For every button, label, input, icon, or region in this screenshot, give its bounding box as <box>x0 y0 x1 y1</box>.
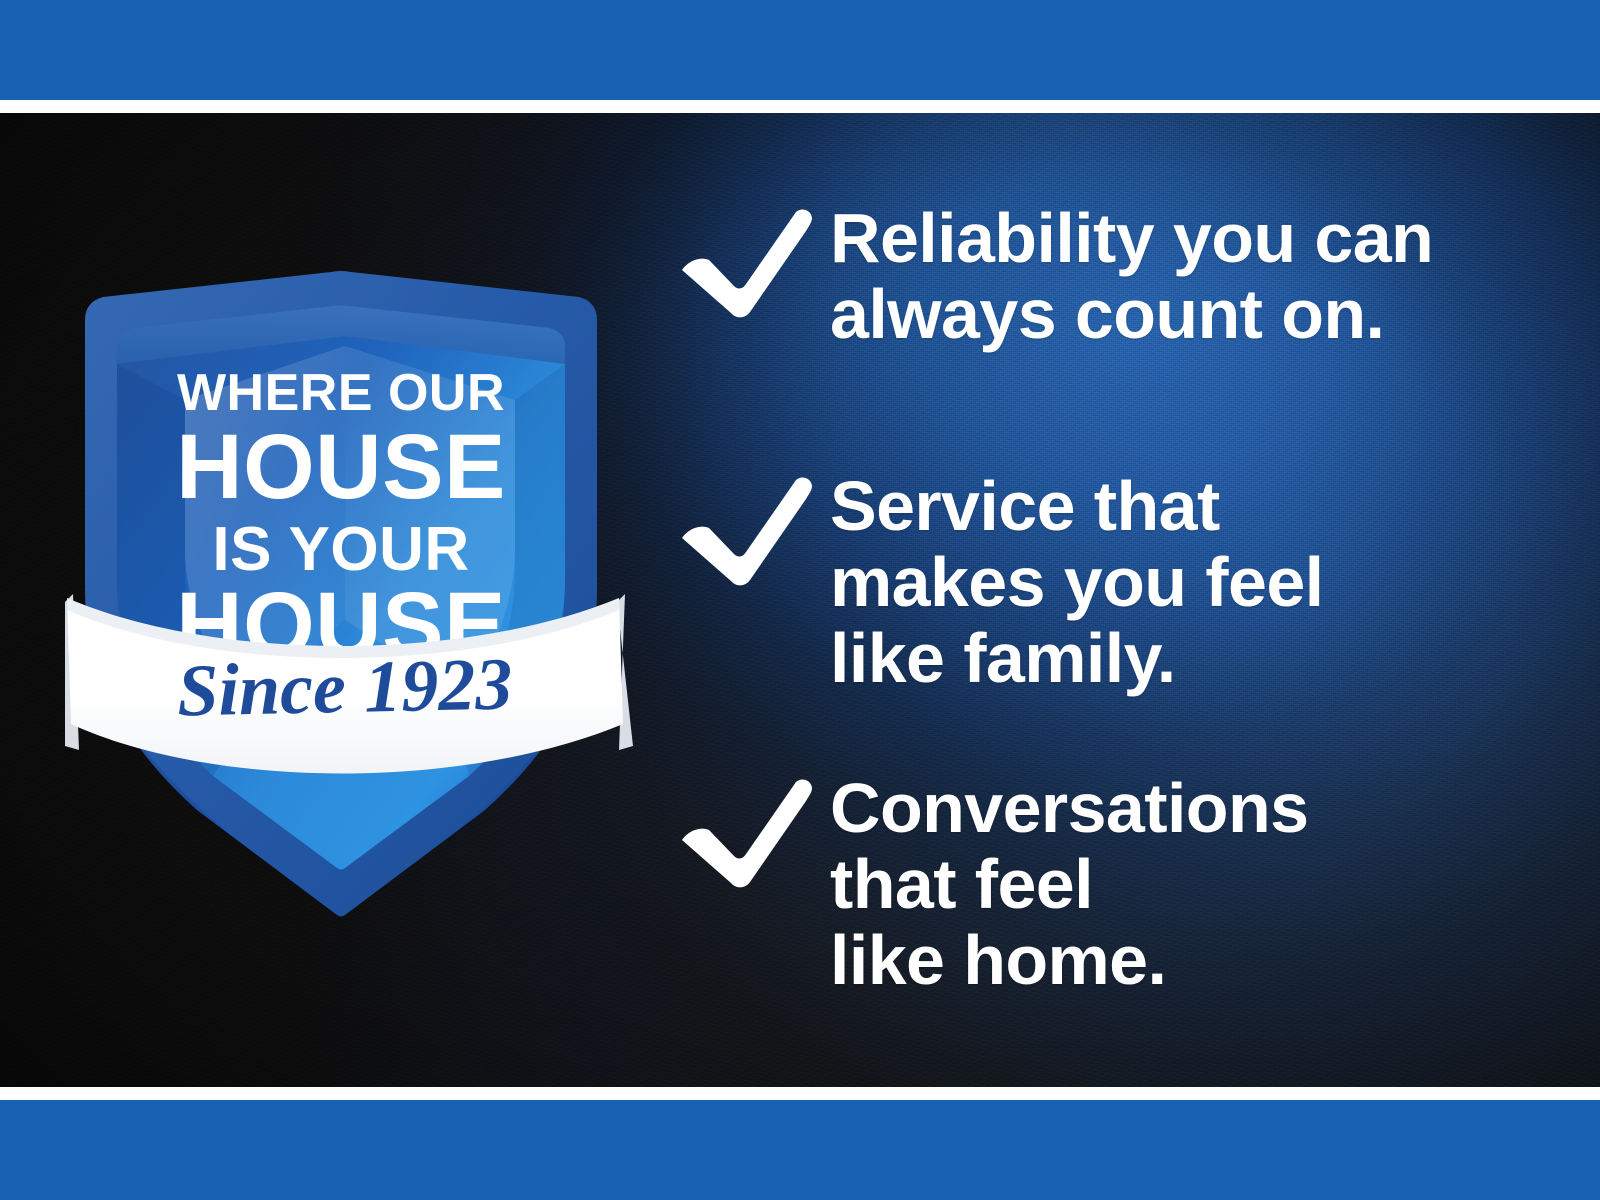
benefit-line: like home. <box>830 922 1590 998</box>
check-icon <box>678 778 814 890</box>
shield-text-block: WHERE OUR HOUSE IS YOUR HOUSE <box>176 364 506 676</box>
benefit-text: Reliability you can always count on. <box>830 200 1590 352</box>
benefit-line: Reliability you can <box>830 200 1590 276</box>
bottom-brand-bar <box>0 1100 1600 1200</box>
benefits-checklist: Reliability you can always count on. Ser… <box>660 113 1600 1087</box>
benefit-line: Service that <box>830 468 1590 544</box>
emblem-line-0: WHERE OUR <box>177 364 505 422</box>
bottom-divider-stripe <box>0 1087 1600 1100</box>
benefit-line: that feel <box>830 846 1590 922</box>
check-icon <box>678 476 814 588</box>
top-divider-stripe <box>0 100 1600 113</box>
benefit-line: makes you feel <box>830 544 1590 620</box>
benefit-line: always count on. <box>830 276 1590 352</box>
brand-emblem: WHERE OUR HOUSE IS YOUR HOUSE Since 1923 <box>45 150 645 830</box>
promo-graphic: WHERE OUR HOUSE IS YOUR HOUSE Since 1923 <box>0 0 1600 1200</box>
benefit-line: like family. <box>830 620 1590 696</box>
benefit-text: Service that makes you feel like family. <box>830 468 1590 696</box>
emblem-ribbon-text: Since 1923 <box>176 644 513 733</box>
benefit-line: Conversations <box>830 770 1590 846</box>
top-brand-bar <box>0 0 1600 100</box>
emblem-line-1: HOUSE <box>176 416 506 518</box>
benefit-text: Conversations that feel like home. <box>830 770 1590 998</box>
check-icon <box>678 208 814 320</box>
